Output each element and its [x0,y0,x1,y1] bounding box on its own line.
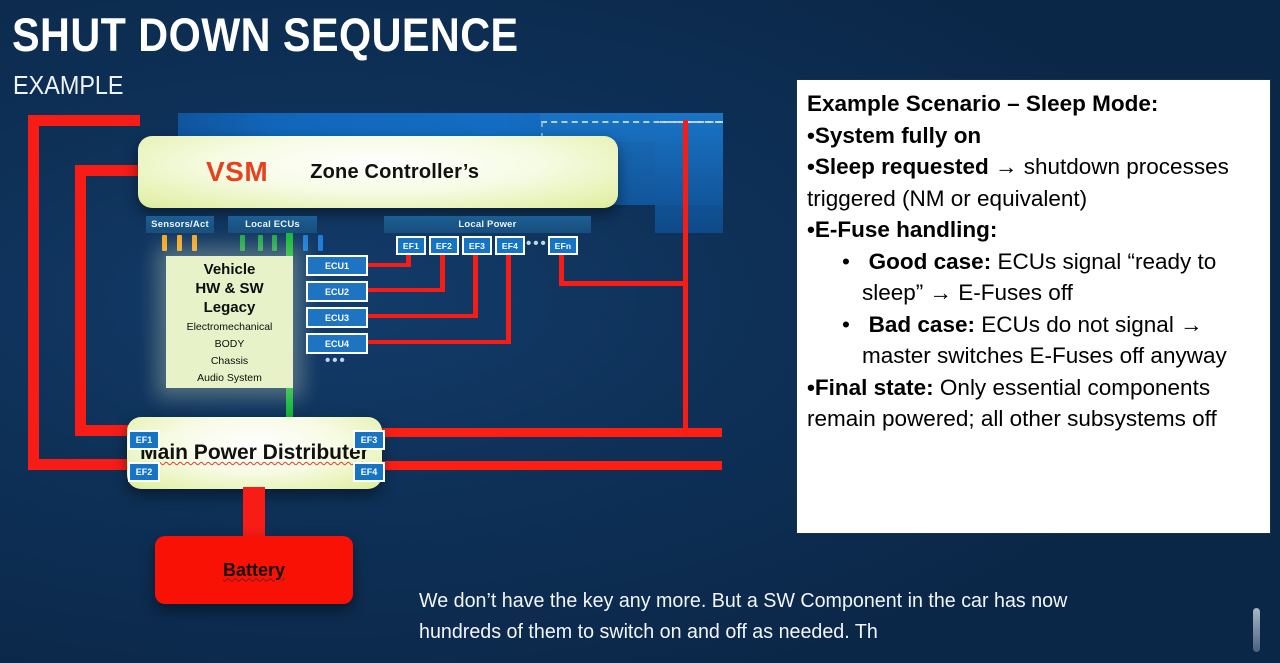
scenario-subbullet-bad-bold: Bad case: [869,312,975,337]
wire-mpd-bus-ef3 [374,428,722,437]
mpd-efuse-ef1-top-left[interactable]: EF1 [128,430,160,450]
pill-sensors-act-label: Sensors/Act [151,219,209,230]
scenario-subbullet-good: • Good case: ECUs signal “ready to sleep… [807,246,1260,309]
ecu-box-ecu4[interactable]: ECU4 [306,333,368,354]
tick-ecu-5 [318,235,323,251]
bullet-glyph-sub-1: • [842,249,850,274]
scenario-bullet-3: •E-Fuse handling: [807,214,1260,246]
pill-local-power-label: Local Power [458,219,516,230]
pill-local-ecus-label: Local ECUs [245,219,300,230]
ecu-box-ecu3[interactable]: ECU3 [306,307,368,328]
caption-fade-overlay [1035,612,1155,650]
main-power-distributer-box[interactable]: Main Power Distributer [127,417,382,489]
wire-mpd-to-battery [243,487,265,542]
bullet-glyph-sub-2: • [842,312,850,337]
ecu-box-ecu1-label: ECU1 [325,261,349,271]
efuse-chip-efn-label: EFn [555,241,572,251]
efuse-chip-ef1[interactable]: EF1 [396,236,426,255]
vehicle-legacy-line2: HW & SW [195,279,263,298]
scenario-bullet-3-text: E-Fuse handling: [815,217,998,242]
page-subtitle: EXAMPLE [13,68,124,102]
bullet-glyph-1: • [807,123,815,148]
wire-ef3-chip-drop [473,250,478,316]
tick-ecu-3 [272,235,277,251]
bullet-glyph-3: • [807,217,815,242]
wire-efn-run [559,281,687,286]
vehicle-legacy-sub2: BODY [215,337,245,351]
vsm-label: VSM [206,156,268,188]
efuse-chip-ef1-label: EF1 [403,241,419,251]
tick-ecu-4 [303,235,308,251]
scenario-bullet-2-bold: Sleep requested [815,154,989,179]
scenario-bullet-1: •System fully on [807,120,1260,152]
scenario-bullet-4-bold: Final state: [815,375,934,400]
banner-strip-tertiary [655,113,723,233]
efuse-chip-ef4[interactable]: EF4 [495,236,525,255]
wire-ef4-chip-run [364,340,511,344]
scenario-bullet-1-text: System fully on [815,123,981,148]
vsm-zone-controller-box[interactable]: VSM Zone Controller’s [138,136,618,208]
wire-ef2-chip-drop [440,250,445,290]
wire-ef2-top-horizontal [28,115,140,126]
scenario-subbullet-good-bold: Good case: [869,249,992,274]
tick-ecu-1 [240,235,245,251]
battery-label: Battery [223,560,285,581]
pill-local-power: Local Power [384,216,591,233]
wire-mpd-bus-ef4 [374,461,722,470]
efuse-chip-ef4-label: EF4 [502,241,518,251]
vehicle-legacy-line1: Vehicle [204,260,256,279]
mpd-efuse-ef1-label: EF1 [136,435,153,445]
battery-box[interactable]: Battery [155,536,353,604]
scenario-panel: Example Scenario – Sleep Mode: •System f… [796,79,1271,534]
mpd-efuse-ef3-top-right[interactable]: EF3 [353,430,385,450]
scenario-bullet-2: •Sleep requested → shutdown processes tr… [807,151,1260,214]
vehicle-legacy-sub3: Chassis [211,354,248,368]
wire-ef3-chip-run [364,314,478,318]
efuse-chip-ef2[interactable]: EF2 [429,236,459,255]
tick-ecu-2 [258,235,263,251]
vehicle-legacy-line3: Legacy [204,298,256,317]
efuse-ellipsis: ••• [526,239,548,249]
mpd-efuse-ef4-label: EF4 [361,467,378,477]
zone-controller-label: Zone Controller’s [310,161,479,184]
tick-sensor-3 [192,235,197,251]
scenario-heading: Example Scenario – Sleep Mode: [807,88,1260,120]
efuse-chip-ef2-label: EF2 [436,241,452,251]
scrollbar-thumb[interactable] [1253,608,1260,652]
tick-sensor-1 [162,235,167,251]
vehicle-legacy-sub4: Audio System [197,371,262,385]
pill-local-ecus: Local ECUs [228,216,317,233]
wire-ef2-left-horizontal [28,459,140,470]
ecu-box-ecu2-label: ECU2 [325,287,349,297]
scenario-subbullet-bad: • Bad case: ECUs do not signal → master … [807,309,1260,372]
mpd-efuse-ef3-label: EF3 [361,435,378,445]
efuse-chip-ef3[interactable]: EF3 [462,236,492,255]
wire-ef1-to-vsm [75,165,145,176]
efuse-chip-ef3-label: EF3 [469,241,485,251]
page-title: SHUT DOWN SEQUENCE [12,6,519,64]
ecu-box-ecu4-label: ECU4 [325,339,349,349]
wire-ef1-chip-run [364,263,411,267]
wire-ef4-chip-drop [506,250,511,342]
scenario-bullet-4: •Final state: Only essential components … [807,372,1260,435]
ecu-box-ecu2[interactable]: ECU2 [306,281,368,302]
pill-sensors-act: Sensors/Act [146,216,214,233]
slide-canvas: SHUT DOWN SEQUENCE EXAMPLE VSM Zone Cont… [0,0,1280,663]
wire-ef2-chip-run [364,288,445,292]
vehicle-legacy-box[interactable]: Vehicle HW & SW Legacy Electromechanical… [166,256,293,388]
wire-ef1-left-vertical [75,165,86,431]
mpd-efuse-ef2-label: EF2 [136,467,153,477]
main-power-distributer-label: Main Power Distributer [127,417,382,489]
wire-efn-drop [559,250,564,284]
ecu-box-ecu3-label: ECU3 [325,313,349,323]
mpd-efuse-ef2-bottom-left[interactable]: EF2 [128,462,160,482]
tick-sensor-2 [177,235,182,251]
vehicle-legacy-sub1: Electromechanical [187,320,273,334]
dashed-guide-top-right [660,121,723,123]
wire-right-riser [683,120,688,435]
ecu-box-ecu1[interactable]: ECU1 [306,255,368,276]
mpd-efuse-ef4-bottom-right[interactable]: EF4 [353,462,385,482]
efuse-chip-efn[interactable]: EFn [548,236,578,255]
bullet-glyph-4: • [807,375,815,400]
wire-ef2-left-vertical [28,115,39,470]
bullet-glyph-2: • [807,154,815,179]
ecu-ellipsis: ••• [325,356,347,366]
